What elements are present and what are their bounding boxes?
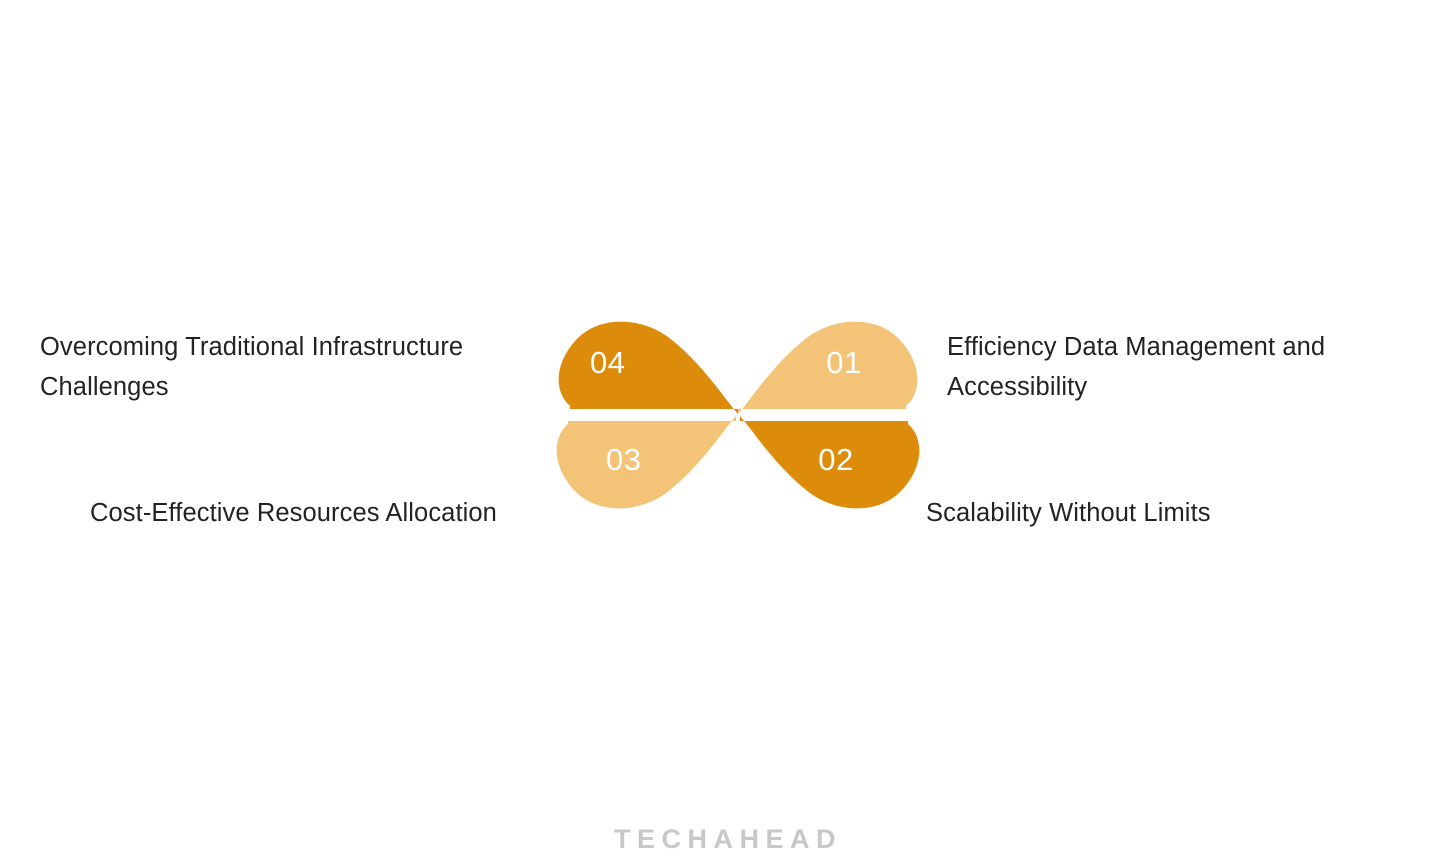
techahead-watermark: TECHAHEAD: [0, 824, 1456, 855]
infographic-canvas: 04 01 03 02 Overcoming Traditional Infra…: [0, 0, 1456, 866]
petal-04-number: 04: [590, 345, 625, 380]
petal-03-label: Cost-Effective Resources Allocation: [90, 493, 560, 533]
petal-04-label: Overcoming Traditional Infrastructure Ch…: [40, 327, 550, 407]
petal-01-label: Efficiency Data Management and Accessibi…: [947, 327, 1417, 407]
petal-02[interactable]: 02: [740, 416, 919, 508]
petal-04[interactable]: 04: [554, 317, 738, 414]
petal-01-number: 01: [826, 345, 861, 380]
petal-02-number: 02: [818, 442, 853, 477]
petal-03[interactable]: 03: [557, 416, 736, 508]
petal-01[interactable]: 01: [738, 322, 917, 414]
petal-03-number: 03: [606, 442, 641, 477]
petal-cluster: 04 01 03 02: [548, 298, 928, 566]
petal-02-label: Scalability Without Limits: [926, 493, 1376, 533]
